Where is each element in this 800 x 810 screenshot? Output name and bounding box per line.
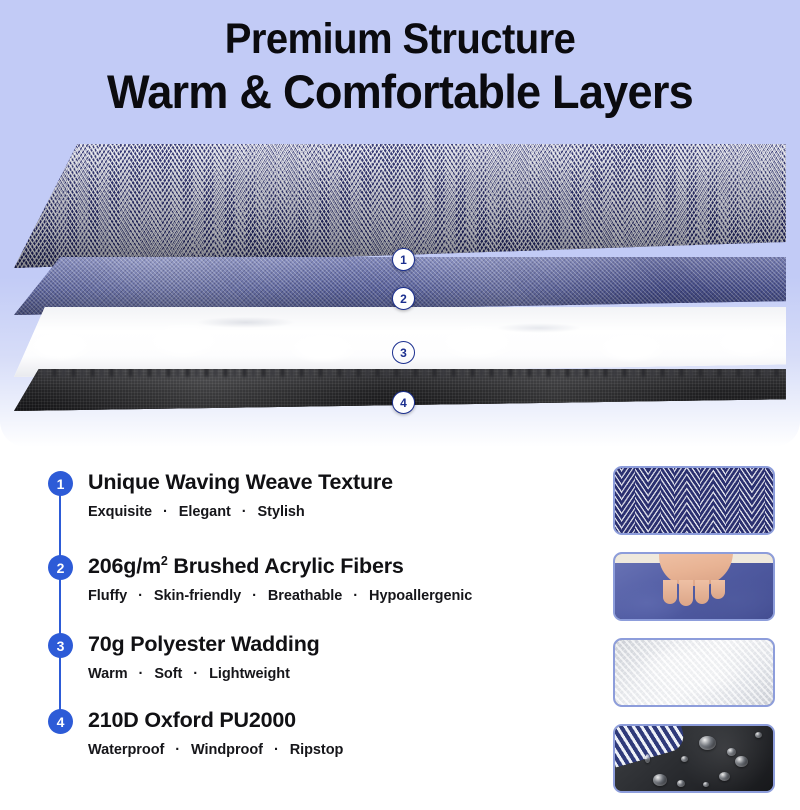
water-droplet-icon <box>755 732 762 738</box>
feature-item-4: 4 210D Oxford PU2000 Waterproof · Windpr… <box>44 708 604 778</box>
water-droplet-icon <box>703 782 709 787</box>
water-droplet-icon <box>699 736 716 750</box>
tag-separator: · <box>235 504 254 520</box>
feature-badge-4: 4 <box>48 709 73 734</box>
thumbnail-column <box>613 466 775 810</box>
tag-separator: · <box>168 742 187 758</box>
feature-title-superscript: 2 <box>161 554 168 568</box>
water-droplet-icon <box>727 748 736 756</box>
tag-separator: · <box>267 742 286 758</box>
water-droplets-thumbnail <box>613 724 775 793</box>
diagram-badge-2: 2 <box>392 287 415 310</box>
water-droplet-icon <box>645 754 650 763</box>
title-line-2: Warm & Comfortable Layers <box>16 68 784 115</box>
water-droplet-icon <box>677 780 685 787</box>
feature-tag: Skin-friendly <box>154 588 241 604</box>
feature-tag: Warm <box>88 666 128 682</box>
feature-tags-1: Exquisite · Elegant · Stylish <box>88 504 604 520</box>
tag-separator: · <box>132 666 151 682</box>
tag-separator: · <box>131 588 150 604</box>
feature-title-prefix: 206g/m <box>88 554 161 578</box>
feature-tag: Ripstop <box>290 742 344 758</box>
oxford-fuzzy-edge <box>14 369 786 377</box>
feature-title-suffix: Brushed Acrylic Fibers <box>168 554 404 578</box>
feature-tag: Stylish <box>258 504 305 520</box>
layer-stack-diagram: 1 2 3 4 <box>0 126 800 426</box>
feature-item-1: 1 Unique Waving Weave Texture Exquisite … <box>44 470 604 554</box>
feature-title-4: 210D Oxford PU2000 <box>88 708 604 733</box>
feature-title-2: 206g/m2 Brushed Acrylic Fibers <box>88 554 604 579</box>
feature-badge-1: 1 <box>48 471 73 496</box>
feature-tags-3: Warm · Soft · Lightweight <box>88 666 604 682</box>
feature-tag: Lightweight <box>209 666 290 682</box>
tag-separator: · <box>245 588 264 604</box>
hand-on-fleece-thumbnail <box>613 552 775 621</box>
feature-tag: Soft <box>154 666 182 682</box>
feature-list: 1 Unique Waving Weave Texture Exquisite … <box>44 470 604 778</box>
thumb-wadding-fibers <box>615 640 773 705</box>
title-line-1: Premium Structure <box>28 18 772 61</box>
water-droplet-icon <box>653 774 667 786</box>
feature-tag: Windproof <box>191 742 263 758</box>
finger-2 <box>679 580 693 606</box>
page-title: Premium Structure Warm & Comfortable Lay… <box>0 18 800 115</box>
tag-separator: · <box>186 666 205 682</box>
tag-separator: · <box>346 588 365 604</box>
feature-tag: Waterproof <box>88 742 164 758</box>
water-droplet-icon <box>719 772 730 781</box>
feature-tag: Exquisite <box>88 504 152 520</box>
thumb-weave-stripe-b <box>613 466 775 535</box>
feature-tags-4: Waterproof · Windproof · Ripstop <box>88 742 604 758</box>
feature-tag: Fluffy <box>88 588 127 604</box>
feature-item-3: 3 70g Polyester Wadding Warm · Soft · Li… <box>44 632 604 708</box>
feature-tag: Hypoallergenic <box>369 588 472 604</box>
finger-3 <box>695 580 709 604</box>
feature-title-3: 70g Polyester Wadding <box>88 632 604 657</box>
herringbone-weave-thumbnail <box>613 466 775 535</box>
finger-1 <box>663 580 677 604</box>
feature-tags-2: Fluffy · Skin-friendly · Breathable · Hy… <box>88 588 604 604</box>
feature-badge-2: 2 <box>48 555 73 580</box>
feature-title-1: Unique Waving Weave Texture <box>88 470 604 495</box>
hero-panel: Premium Structure Warm & Comfortable Lay… <box>0 0 800 447</box>
water-droplet-icon <box>735 756 748 767</box>
finger-4 <box>711 580 725 599</box>
diagram-badge-3: 3 <box>392 341 415 364</box>
feature-tag: Breathable <box>268 588 342 604</box>
tag-separator: · <box>156 504 175 520</box>
diagram-badge-1: 1 <box>392 248 415 271</box>
feature-item-2: 2 206g/m2 Brushed Acrylic Fibers Fluffy … <box>44 554 604 632</box>
feature-tag: Elegant <box>179 504 231 520</box>
diagram-badge-4: 4 <box>392 391 415 414</box>
feature-badge-3: 3 <box>48 633 73 658</box>
water-droplet-icon <box>681 756 688 762</box>
white-wadding-thumbnail <box>613 638 775 707</box>
